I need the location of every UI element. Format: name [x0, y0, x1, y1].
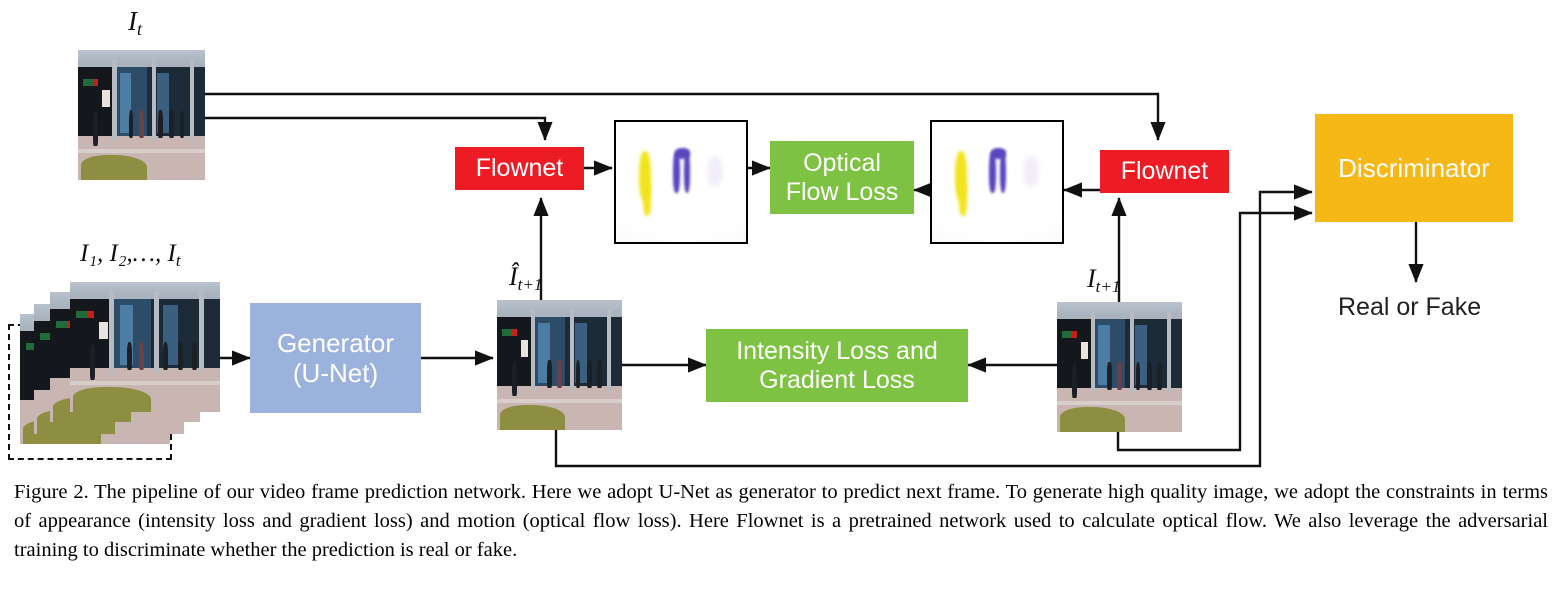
intensity-loss-line1: Intensity Loss and	[736, 337, 938, 366]
flownet-right-node[interactable]: Flownet	[1100, 150, 1229, 193]
predicted-frame-label: Ît+1	[509, 262, 542, 295]
flownet-left-label: Flownet	[476, 154, 564, 183]
intensity-gradient-loss-node[interactable]: Intensity Loss and Gradient Loss	[706, 329, 968, 402]
discriminator-label: Discriminator	[1338, 153, 1490, 183]
future-frame-image	[1057, 302, 1182, 432]
flownet-left-node[interactable]: Flownet	[455, 147, 584, 190]
optical-flow-left-image	[614, 120, 748, 244]
generator-line2: (U-Net)	[293, 358, 378, 388]
input-sequence-label: I₁, I₂,…, It	[80, 240, 181, 271]
input-frame-t-label: It	[128, 6, 142, 40]
pipeline-diagram: It	[0, 0, 1560, 470]
future-frame-label: It+1	[1087, 264, 1120, 297]
flownet-right-label: Flownet	[1121, 157, 1209, 186]
input-sequence-stack	[8, 282, 218, 462]
discriminator-node[interactable]: Discriminator	[1315, 114, 1513, 222]
predicted-frame-image	[497, 300, 622, 430]
optical-flow-loss-node[interactable]: Optical Flow Loss	[770, 141, 914, 214]
optical-flow-loss-line1: Optical	[803, 149, 881, 178]
output-label: Real or Fake	[1338, 293, 1481, 322]
optical-flow-right-image	[930, 120, 1064, 244]
intensity-loss-line2: Gradient Loss	[759, 366, 915, 395]
generator-line1: Generator	[277, 328, 394, 358]
generator-node[interactable]: Generator (U-Net)	[250, 303, 421, 413]
input-frame-t-image	[78, 50, 205, 180]
optical-flow-loss-line2: Flow Loss	[786, 178, 899, 207]
figure-caption: Figure 2. The pipeline of our video fram…	[14, 478, 1548, 565]
